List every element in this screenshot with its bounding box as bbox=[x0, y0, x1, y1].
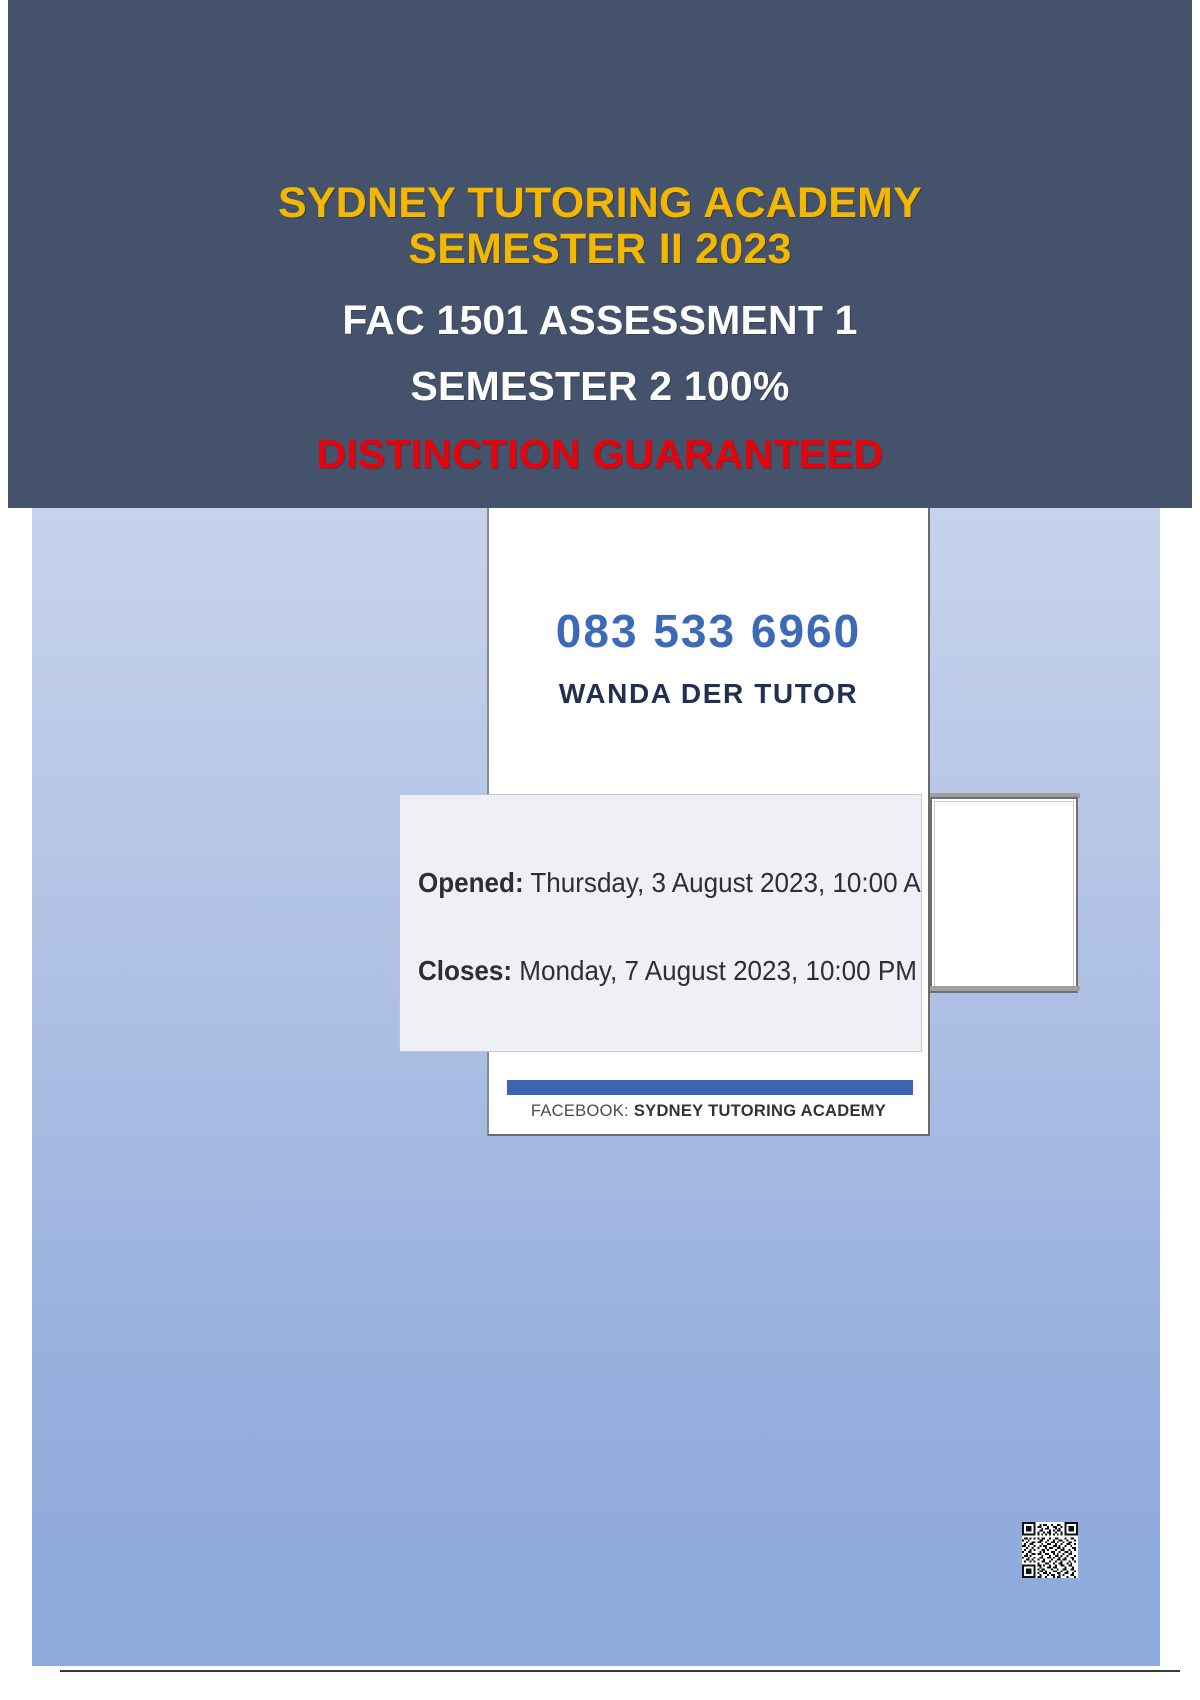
closes-row: Closes: Monday, 7 August 2023, 10:00 PM bbox=[418, 955, 917, 987]
banner-title-line-1: SYDNEY TUTORING ACADEMY bbox=[8, 182, 1192, 226]
side-frame-inner-border bbox=[934, 801, 1074, 989]
closes-value: Monday, 7 August 2023, 10:00 PM bbox=[519, 955, 917, 986]
closes-label: Closes: bbox=[418, 955, 512, 986]
banner-semester-line: SEMESTER 2 100% bbox=[8, 366, 1192, 408]
right-margin-strip bbox=[1160, 508, 1200, 1666]
facebook-label: FACEBOOK: bbox=[531, 1102, 629, 1120]
bottom-divider bbox=[60, 1670, 1180, 1672]
opened-value: Thursday, 3 August 2023, 10:00 AM bbox=[530, 867, 921, 898]
phone-number: 083 533 6960 bbox=[489, 604, 928, 658]
tutor-name: WANDA DER TUTOR bbox=[489, 678, 928, 710]
banner-subject-line: FAC 1501 ASSESSMENT 1 bbox=[8, 300, 1192, 342]
header-banner: SYDNEY TUTORING ACADEMY SEMESTER II 2023… bbox=[8, 0, 1192, 508]
qr-code-svg bbox=[1022, 1522, 1078, 1578]
banner-title-line-2: SEMESTER II 2023 bbox=[8, 228, 1192, 272]
side-frame-box bbox=[930, 797, 1078, 993]
facebook-accent-bar bbox=[507, 1080, 913, 1095]
qr-code-icon bbox=[1022, 1522, 1078, 1578]
facebook-value: SYDNEY TUTORING ACADEMY bbox=[634, 1102, 886, 1120]
opened-row: Opened: Thursday, 3 August 2023, 10:00 A… bbox=[418, 867, 921, 899]
opened-label: Opened: bbox=[418, 867, 524, 898]
banner-guarantee-line: DISTINCTION GUARANTEED bbox=[8, 434, 1192, 476]
facebook-line: FACEBOOK: SYDNEY TUTORING ACADEMY bbox=[489, 1102, 928, 1121]
side-frame-bottom-edge bbox=[930, 986, 1080, 991]
poster-page: SYDNEY TUTORING ACADEMY SEMESTER II 2023… bbox=[0, 0, 1200, 1700]
assessment-dates-overlay: Opened: Thursday, 3 August 2023, 10:00 A… bbox=[400, 795, 921, 1051]
